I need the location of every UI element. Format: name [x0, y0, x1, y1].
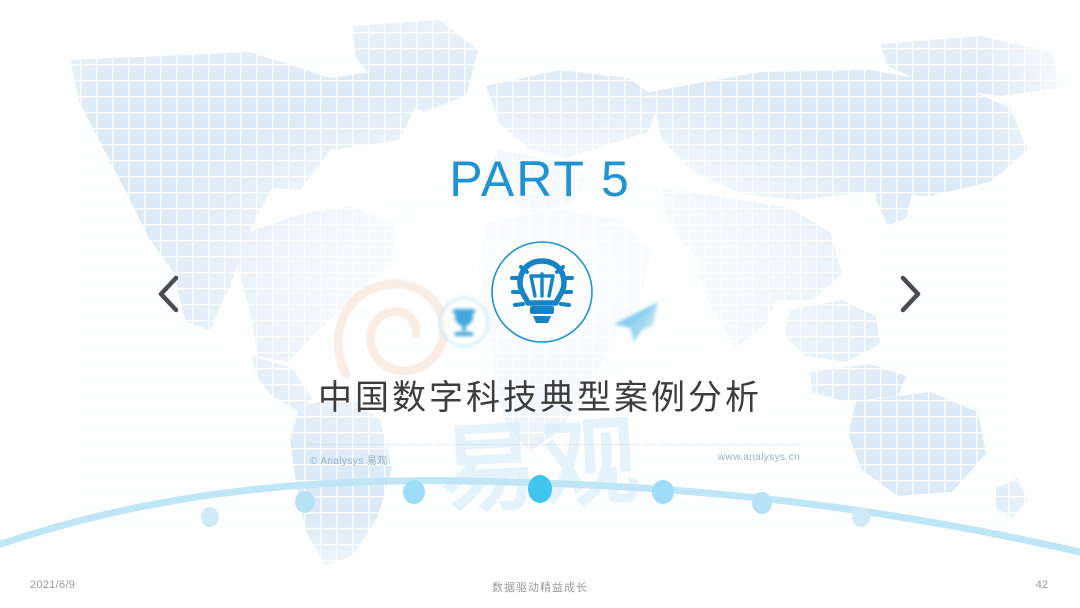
slide-canvas: 易观 PART 5	[0, 0, 1080, 608]
lightbulb-icon	[490, 240, 594, 344]
progress-dot[interactable]	[652, 480, 674, 504]
progress-dot[interactable]	[852, 507, 870, 527]
chevron-right-icon	[897, 274, 923, 314]
chevron-left-icon	[155, 274, 181, 314]
progress-dot[interactable]	[752, 492, 772, 514]
footer-page-number: 42	[1036, 579, 1048, 591]
page-title: 中国数字科技典型案例分析	[0, 370, 1080, 419]
progress-dot[interactable]	[403, 480, 425, 504]
progress-dot[interactable]	[201, 507, 219, 527]
next-slide-button[interactable]	[888, 272, 932, 316]
part-label: PART 5	[0, 150, 1080, 208]
credit-divider	[310, 444, 800, 446]
progress-dot[interactable]	[295, 491, 315, 513]
prev-slide-button[interactable]	[146, 272, 190, 316]
section-progress-arc[interactable]	[0, 455, 1080, 565]
footer-slogan: 数据驱动精益成长	[0, 579, 1080, 595]
progress-dot-active[interactable]	[528, 475, 552, 503]
paper-plane-icon	[608, 294, 666, 348]
trophy-icon	[438, 296, 490, 348]
slide-footer: 2021/6/9 数据驱动精益成长 42	[0, 566, 1080, 608]
